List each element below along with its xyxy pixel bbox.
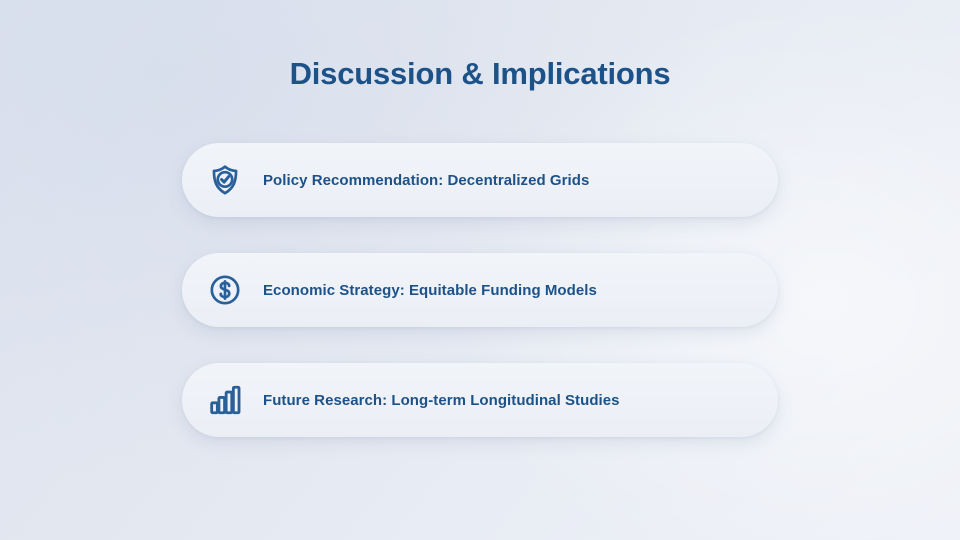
shield-check-icon [203,158,247,202]
list-item-policy-recommendation[interactable]: Policy Recommendation: Decentralized Gri… [182,143,778,217]
key-points-list: Policy Recommendation: Decentralized Gri… [182,143,778,437]
list-item-label: Future Research: Long-term Longitudinal … [263,392,620,409]
bar-chart-icon [203,378,247,422]
list-item-label: Economic Strategy: Equitable Funding Mod… [263,282,597,299]
slide-canvas: Discussion & Implications Policy Recomme… [0,0,960,540]
dollar-circle-icon [203,268,247,312]
page-title: Discussion & Implications [0,56,960,92]
list-item-future-research[interactable]: Future Research: Long-term Longitudinal … [182,363,778,437]
list-item-economic-strategy[interactable]: Economic Strategy: Equitable Funding Mod… [182,253,778,327]
list-item-label: Policy Recommendation: Decentralized Gri… [263,172,589,189]
